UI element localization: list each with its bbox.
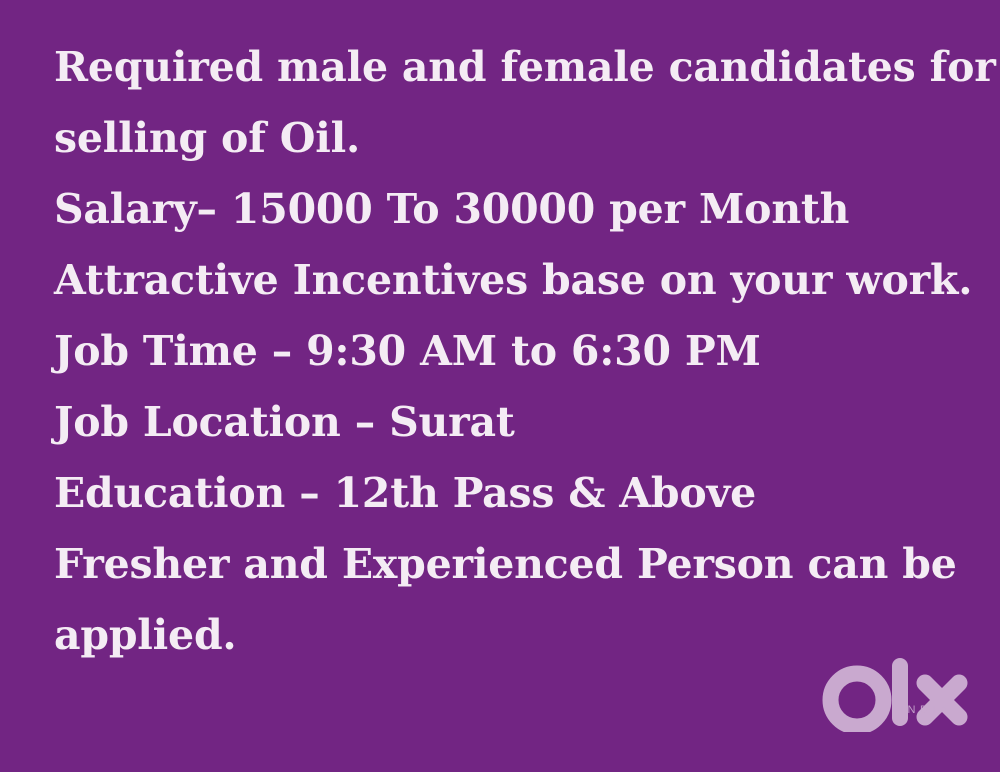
olx-region-label: INDIA xyxy=(900,704,952,716)
olx-logo-icon xyxy=(822,656,968,732)
ad-line-salary: Salary– 15000 To 30000 per Month xyxy=(54,174,954,245)
ad-line-experience-2: applied. xyxy=(54,600,954,671)
ad-line-job-location: Job Location – Surat xyxy=(54,387,954,458)
ad-line-incentives: Attractive Incentives base on your work. xyxy=(54,245,954,316)
advertisement-text-block: Required male and female candidates for … xyxy=(54,32,954,671)
ad-line-experience-1: Fresher and Experienced Person can be xyxy=(54,529,954,600)
ad-line-education: Education – 12th Pass & Above xyxy=(54,458,954,529)
ad-line-role-2: selling of Oil. xyxy=(54,103,954,174)
ad-line-role-1: Required male and female candidates for xyxy=(54,32,954,103)
olx-watermark: INDIA xyxy=(822,656,972,740)
job-advertisement-poster: Required male and female candidates for … xyxy=(0,0,1000,772)
ad-line-job-time: Job Time – 9:30 AM to 6:30 PM xyxy=(54,316,954,387)
